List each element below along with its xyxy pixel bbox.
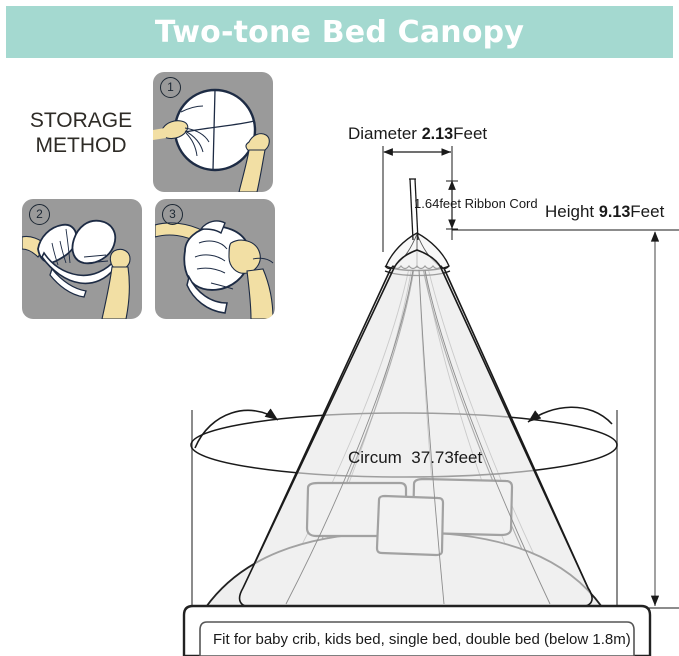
- ribbon-label-text: Ribbon Cord: [465, 196, 538, 211]
- height-value: 9.13: [599, 203, 630, 221]
- circumference-label: Circum 37.73feet: [348, 448, 482, 468]
- circum-unit: feet: [454, 448, 482, 467]
- canopy-front-drape: [240, 250, 593, 607]
- ribbon-cord-line-left: [410, 179, 413, 240]
- circum-arrow-left: [195, 410, 278, 448]
- circum-label-text: Circum: [348, 448, 402, 467]
- diameter-unit: Feet: [453, 124, 487, 143]
- circum-value: 37.73: [411, 448, 454, 467]
- ribbon-unit: feet: [439, 196, 461, 211]
- ribbon-cord-label: 1.64feet Ribbon Cord: [414, 196, 538, 211]
- storage-step-3-number: 3: [162, 204, 183, 225]
- ribbon-value: 1.64: [414, 196, 439, 211]
- storage-step-1-number: 1: [160, 77, 181, 98]
- fit-note: Fit for baby crib, kids bed, single bed,…: [213, 631, 631, 648]
- height-unit: Feet: [630, 202, 664, 221]
- height-label-text: Height: [545, 202, 594, 221]
- circum-arrow-right: [528, 407, 612, 424]
- canopy-dimension-diagram: [0, 0, 679, 656]
- storage-step-2-number: 2: [29, 204, 50, 225]
- height-label: Height 9.13Feet: [545, 202, 664, 222]
- diameter-value: 2.13: [422, 125, 453, 143]
- diameter-label-text: Diameter: [348, 124, 417, 143]
- diameter-label: Diameter 2.13Feet: [348, 124, 487, 144]
